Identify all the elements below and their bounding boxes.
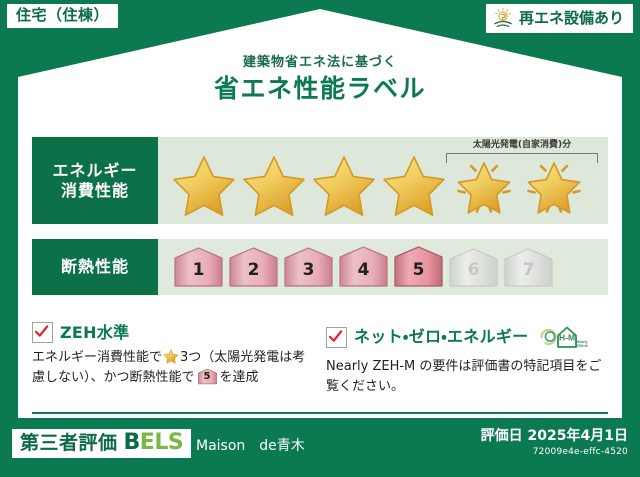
- energy-label-line2: 消費性能: [61, 181, 129, 201]
- bels-wordmark: BELS: [124, 432, 184, 454]
- insulation-label: 断熱性能: [61, 257, 129, 277]
- insulation-level-4-value: 4: [337, 262, 390, 279]
- zeh-desc-part1: エネルギー消費性能で: [32, 350, 162, 365]
- insulation-level-1-value: 1: [172, 262, 225, 279]
- check-icon: [34, 324, 49, 339]
- insulation-level-7-value: 7: [502, 262, 555, 279]
- zeh-standard-description: エネルギー消費性能で3つ（太陽光発電は考慮しない）、かつ断熱性能で5を達成: [32, 348, 312, 388]
- building-type-badge: 住宅（住棟）: [7, 4, 118, 28]
- insulation-level-2-value: 2: [227, 262, 280, 279]
- energy-performance-row: エネルギー 消費性能: [32, 137, 608, 224]
- net-zero-energy-title: ネット・ゼロ・エネルギー: [354, 329, 528, 345]
- star-filled-2: [240, 151, 308, 217]
- insulation-level-4: 4: [337, 245, 390, 289]
- label-main-title: 省エネ性能ラベル: [0, 76, 640, 101]
- zeh-standard-block: ZEH水準 エネルギー消費性能で3つ（太陽光発電は考慮しない）、かつ断熱性能で5…: [32, 322, 312, 388]
- insulation-level-3-value: 3: [282, 262, 335, 279]
- zeh-standard-title: ZEH水準: [60, 325, 129, 341]
- inline-badge-value: 5: [197, 372, 218, 382]
- zeh-m-logo-icon: H-M Nearly ZEH-M: [537, 322, 589, 352]
- net-zero-checkbox[interactable]: [326, 327, 347, 348]
- evaluation-id: 72009e4e-effc-4520: [481, 447, 628, 459]
- svg-text:ZEH-M: ZEH-M: [577, 344, 588, 348]
- star-rating: [158, 151, 588, 217]
- evaluation-date: 評価日 2025年4月1日: [481, 429, 628, 444]
- bels-letters-els: ELS: [140, 430, 183, 455]
- star-solar-5: [450, 151, 518, 217]
- insulation-level-1: 1: [172, 245, 225, 289]
- energy-performance-stars-panel: 太陽光発電(自家消費)分: [158, 137, 608, 224]
- label-subtitle: 建築物省エネ法に基づく: [0, 56, 640, 69]
- zeh-checkbox[interactable]: [32, 322, 53, 343]
- net-zero-energy-block: ネット・ゼロ・エネルギー H-M Nearly ZEH-M Nearly ZEH…: [326, 322, 614, 397]
- evaluation-info: 評価日 2025年4月1日 72009e4e-effc-4520: [481, 429, 628, 459]
- bels-badge: 第三者評価 BELS: [12, 429, 191, 458]
- insulation-level-6: 6: [447, 245, 500, 289]
- insulation-level-5: 5: [392, 245, 445, 289]
- building-type-badge-label: 住宅（住棟）: [16, 6, 109, 24]
- star-filled-3: [310, 151, 378, 217]
- star-filled-1: [170, 151, 238, 217]
- renewable-equipment-badge: 再エネ設備あり: [486, 4, 633, 33]
- check-icon: [328, 329, 343, 344]
- insulation-level-scale: 1 2 3 4 5: [158, 245, 555, 289]
- energy-label-line1: エネルギー: [52, 161, 137, 181]
- insulation-performance-row-label: 断熱性能: [32, 239, 158, 295]
- building-name: Maison de青木: [196, 439, 305, 453]
- insulation-level-3: 3: [282, 245, 335, 289]
- star-solar-6: [520, 151, 588, 217]
- svg-text:H-M: H-M: [559, 333, 575, 343]
- insulation-level-7: 7: [502, 245, 555, 289]
- energy-performance-row-label: エネルギー 消費性能: [32, 137, 158, 224]
- insulation-level-2: 2: [227, 245, 280, 289]
- zeh-standard-header: ZEH水準: [32, 322, 312, 343]
- sun-icon: [492, 7, 514, 29]
- zeh-desc-part3: を達成: [220, 370, 259, 385]
- star-filled-4: [380, 151, 448, 217]
- net-zero-energy-description: Nearly ZEH-M の要件は評価書の特記項目をご覧ください。: [326, 357, 614, 397]
- bels-letter-b: B: [124, 430, 140, 455]
- label-footer: 第三者評価 BELS Maison de青木 評価日 2025年4月1日 720…: [0, 421, 640, 477]
- insulation-levels-panel: 1 2 3 4 5: [158, 239, 608, 295]
- net-zero-energy-header: ネット・ゼロ・エネルギー H-M Nearly ZEH-M: [326, 322, 614, 352]
- insulation-level-6-value: 6: [447, 262, 500, 279]
- insulation-performance-row: 断熱性能: [32, 239, 608, 295]
- energy-performance-label: 住宅（住棟） 再エネ設備あり 建築物省エネ法に基づく 省エネ性能ラベル エネルギ…: [0, 0, 640, 477]
- insulation-level-5-value: 5: [392, 262, 445, 279]
- footer-divider: [32, 412, 608, 414]
- bels-third-party-label: 第三者評価: [20, 434, 118, 453]
- renewable-badge-label: 再エネ設備あり: [519, 11, 624, 26]
- inline-insulation-badge: 5: [197, 368, 218, 385]
- label-title-group: 建築物省エネ法に基づく 省エネ性能ラベル: [0, 56, 640, 101]
- inline-star-icon: [163, 348, 179, 364]
- solar-generation-note: 太陽光発電(自家消費)分: [446, 141, 598, 150]
